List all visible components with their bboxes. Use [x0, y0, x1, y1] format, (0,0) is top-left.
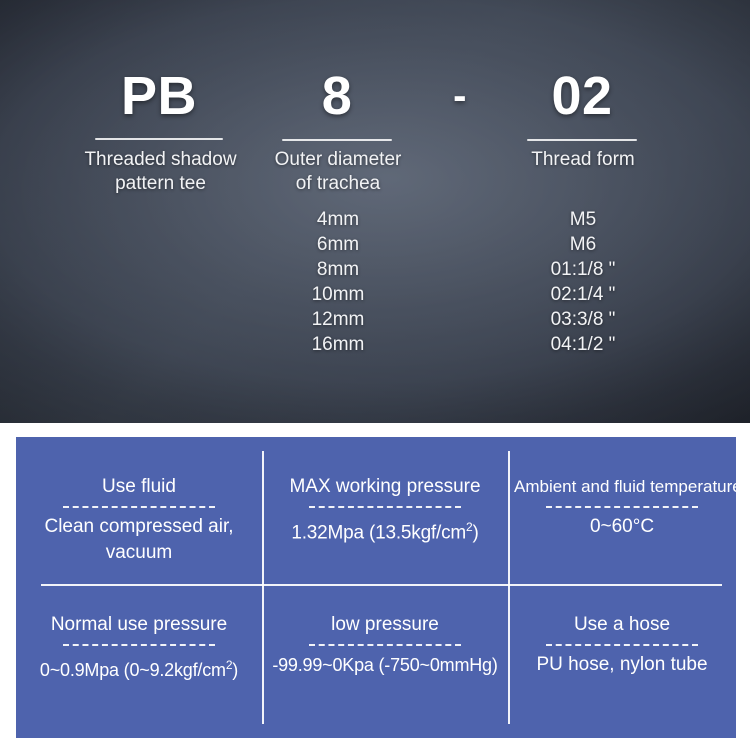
spec-title: Use fluid: [22, 475, 256, 499]
spec-dash-separator: [309, 644, 461, 646]
option-item: M5: [497, 207, 669, 232]
product-spec-infographic: PB 8 - 02 Threaded shadowpattern tee Out…: [0, 0, 750, 750]
option-item: M6: [497, 232, 669, 257]
option-item: 02:1/4 ": [497, 282, 669, 307]
option-item: 01:1/8 ": [497, 257, 669, 282]
option-item: 03:3/8 ": [497, 307, 669, 332]
spec-value: PU hose, nylon tube: [514, 652, 730, 678]
code-size: 8: [272, 58, 402, 134]
option-item: 8mm: [242, 257, 434, 282]
underline-thread: [527, 139, 637, 141]
spec-title: Use a hose: [514, 613, 730, 637]
spec-value: 1.32Mpa (13.5kgf/cm2): [268, 514, 502, 546]
spec-cell-use-fluid: Use fluid Clean compressed air,vacuum: [16, 475, 262, 566]
thread-option-list: M5M601:1/8 "02:1/4 "03:3/8 "04:1/2 ": [497, 207, 669, 357]
code-prefix: PB: [85, 58, 233, 134]
spec-dash-separator: [546, 506, 698, 508]
spec-dash-separator: [309, 506, 461, 508]
spec-cell-max-working-pressure: MAX working pressure 1.32Mpa (13.5kgf/cm…: [262, 475, 508, 546]
spec-value: 0~60°C: [514, 514, 730, 540]
spec-table: Use fluid Clean compressed air,vacuum MA…: [16, 437, 736, 738]
spec-dash-separator: [63, 644, 215, 646]
model-code-row: PB 8 - 02: [0, 58, 750, 138]
underline-prefix: [95, 138, 223, 140]
option-item: 4mm: [242, 207, 434, 232]
spec-value: Clean compressed air,vacuum: [22, 514, 256, 566]
spec-value: -99.99~0Kpa (-750~0mmHg): [268, 652, 502, 678]
underline-size: [282, 139, 392, 141]
option-item: 12mm: [242, 307, 434, 332]
spec-dash-separator: [63, 506, 215, 508]
spec-dash-separator: [546, 644, 698, 646]
spec-title: low pressure: [268, 613, 502, 637]
code-thread: 02: [517, 58, 647, 134]
spec-title: Ambient and fluid temperature: [514, 475, 730, 499]
spec-cell-normal-use-pressure: Normal use pressure 0~0.9Mpa (0~9.2kgf/c…: [16, 613, 262, 683]
spec-cell-use-a-hose: Use a hose PU hose, nylon tube: [508, 613, 736, 678]
spec-cell-low-pressure: low pressure -99.99~0Kpa (-750~0mmHg): [262, 613, 508, 678]
table-divider-horizontal: [41, 584, 722, 586]
option-item: 04:1/2 ": [497, 332, 669, 357]
caption-size: Outer diameterof trachea: [242, 148, 434, 196]
caption-prefix: Threaded shadowpattern tee: [58, 148, 263, 196]
spec-title: MAX working pressure: [268, 475, 502, 499]
model-code-panel: PB 8 - 02 Threaded shadowpattern tee Out…: [0, 0, 750, 423]
spec-cell-ambient-temperature: Ambient and fluid temperature 0~60°C: [508, 475, 736, 540]
caption-thread: Thread form: [497, 148, 669, 172]
option-item: 16mm: [242, 332, 434, 357]
option-item: 6mm: [242, 232, 434, 257]
code-separator: -: [405, 58, 515, 134]
option-item: 10mm: [242, 282, 434, 307]
spec-value: 0~0.9Mpa (0~9.2kgf/cm2): [22, 652, 256, 683]
spec-title: Normal use pressure: [22, 613, 256, 637]
diameter-option-list: 4mm6mm8mm10mm12mm16mm: [242, 207, 434, 357]
